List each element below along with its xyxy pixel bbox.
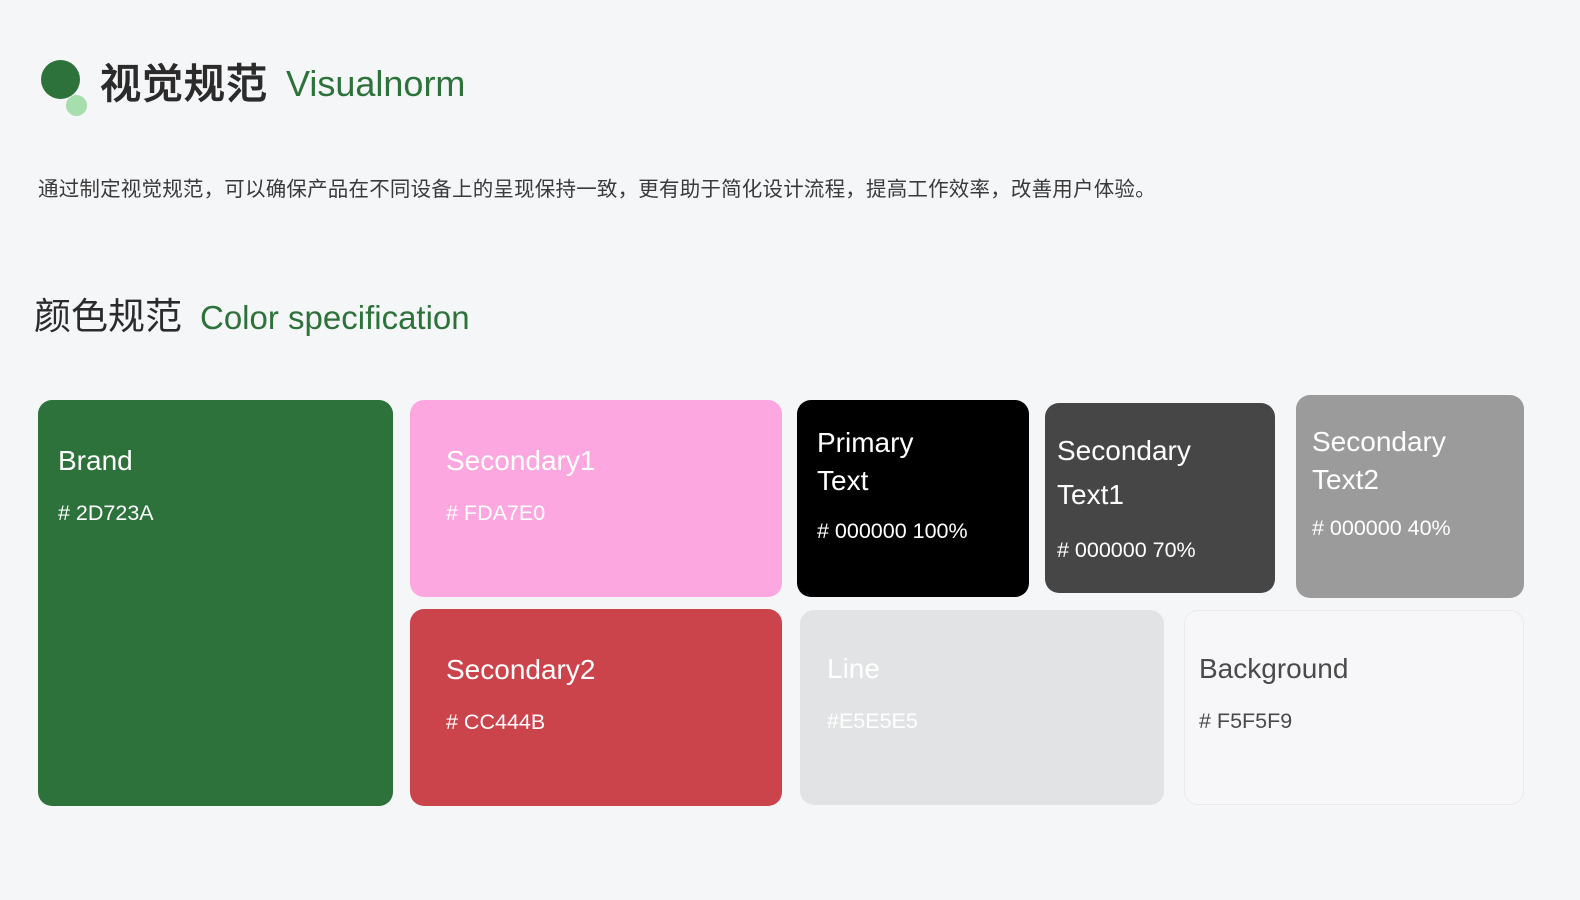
- swatch-name: Line: [827, 650, 1164, 688]
- swatch-name: Secondary1: [446, 442, 782, 480]
- swatch-hex-value: # 2D723A: [58, 498, 393, 528]
- color-swatch-brand[interactable]: Brand # 2D723A: [38, 400, 393, 806]
- brand-logo: [38, 48, 100, 120]
- color-swatch-secondary2[interactable]: Secondary2 # CC444B: [410, 609, 782, 806]
- color-swatch-line[interactable]: Line #E5E5E5: [800, 610, 1164, 805]
- swatch-hex-value: # 000000 100%: [817, 516, 1029, 546]
- swatch-name: Background: [1199, 650, 1523, 688]
- logo-large-circle-icon: [41, 60, 80, 99]
- color-swatch-secondary-text2[interactable]: Secondary Text2 # 000000 40%: [1296, 395, 1524, 598]
- swatch-hex-value: #E5E5E5: [827, 706, 1164, 736]
- swatch-name: Brand: [58, 442, 393, 480]
- swatch-name: Primary Text: [817, 424, 1029, 500]
- color-swatch-secondary1[interactable]: Secondary1 # FDA7E0: [410, 400, 782, 597]
- color-swatch-secondary-text1[interactable]: Secondary Text1 # 000000 70%: [1045, 403, 1275, 593]
- section-heading-cn: 颜色规范: [34, 298, 182, 335]
- swatch-hex-value: # 000000 40%: [1312, 513, 1524, 543]
- color-swatch-background[interactable]: Background # F5F5F9: [1184, 610, 1524, 805]
- swatch-hex-value: # F5F5F9: [1199, 706, 1523, 736]
- page-title-en: Visualnorm: [286, 66, 465, 102]
- swatch-hex-value: # 000000 70%: [1057, 535, 1275, 565]
- swatch-hex-value: # FDA7E0: [446, 498, 782, 528]
- swatch-hex-value: # CC444B: [446, 707, 782, 737]
- color-swatch-primary-text[interactable]: Primary Text # 000000 100%: [797, 400, 1029, 597]
- swatch-name: Secondary Text1: [1057, 429, 1275, 517]
- page-title-cn: 视觉规范: [100, 64, 268, 105]
- swatch-name: Secondary Text2: [1312, 423, 1524, 499]
- section-heading-color-specification: 颜色规范 Color specification: [34, 298, 470, 335]
- logo-small-circle-icon: [66, 95, 87, 116]
- page-header: 视觉规范 Visualnorm: [38, 48, 465, 120]
- section-heading-en: Color specification: [200, 301, 470, 334]
- intro-paragraph: 通过制定视觉规范，可以确保产品在不同设备上的呈现保持一致，更有助于简化设计流程，…: [38, 162, 1490, 218]
- swatch-name: Secondary2: [446, 651, 782, 689]
- visual-spec-page: 视觉规范 Visualnorm 通过制定视觉规范，可以确保产品在不同设备上的呈现…: [0, 0, 1580, 900]
